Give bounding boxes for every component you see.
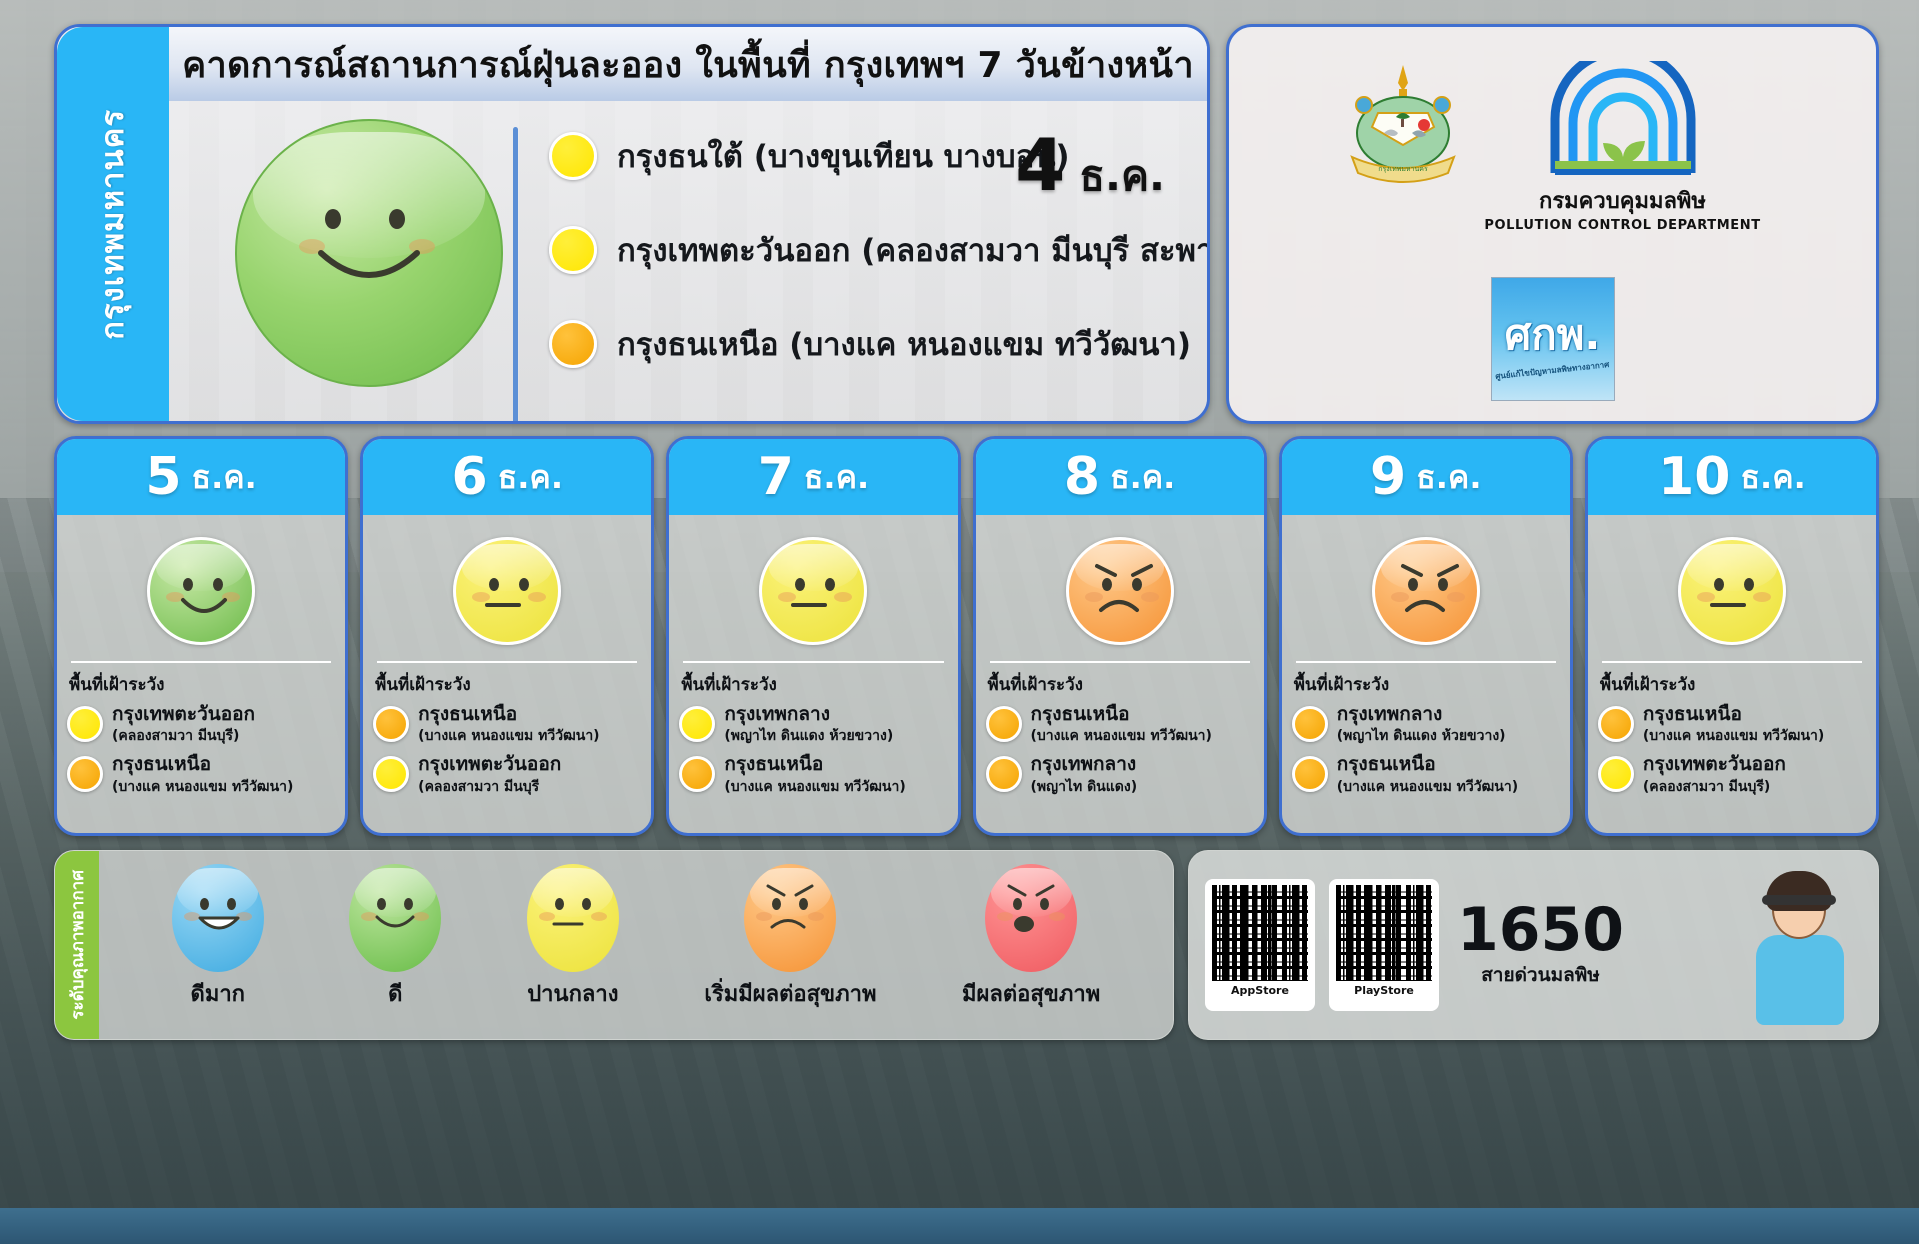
warn-area-name: กรุงเทพกลาง (724, 703, 830, 725)
face-gloss (355, 868, 436, 918)
warn-area-name: กรุงเทพตะวันออก (418, 753, 561, 775)
legend-item-red: มีผลต่อสุขภาพ (962, 864, 1100, 1011)
status-dot-yellow-icon (549, 132, 597, 180)
day-body: พื้นที่เฝ้าระวังกรุงธนเหนือ(บางแค หนองแข… (976, 515, 1264, 836)
face-angry-brows (1006, 884, 1056, 898)
face-eye-left (1102, 578, 1112, 591)
status-dot-orange-icon (1292, 706, 1328, 742)
warn-area-sub: (คลองสามวา มีนบุรี (418, 779, 539, 795)
pcd-thai-name: กรมควบคุมมลพิษ (1539, 183, 1706, 218)
list-item: กรุงธนเหนือ (บางแค หนองแขม ทวีวัฒนา) (549, 319, 1210, 369)
legend-item-yellow: ปานกลาง (527, 864, 619, 1011)
today-date: 4 ธ.ค. (1015, 123, 1165, 209)
face-cheek-right (1447, 592, 1465, 602)
status-dot-orange-icon (373, 706, 409, 742)
today-date-number: 4 (1015, 123, 1065, 207)
area-name: กรุงธนใต้ (บางขุนเทียน บางบอน) (617, 131, 1070, 181)
status-dot-orange-icon (1598, 706, 1634, 742)
warn-area-name: กรุงเทพตะวันออก (112, 703, 255, 725)
legend-face-icon (172, 864, 264, 972)
warn-area-name: กรุงธนเหนือ (112, 753, 211, 775)
face-eye-right (1438, 578, 1448, 591)
face-eye-left (555, 898, 564, 910)
today-mood-face-icon (235, 119, 503, 387)
face-smile (373, 914, 417, 934)
status-dot-orange-icon (986, 706, 1022, 742)
watch-area-label: พื้นที่เฝ้าระวัง (1294, 671, 1560, 698)
face-eye-right (227, 898, 236, 910)
face-smile (177, 596, 231, 622)
face-eye-right (825, 578, 835, 591)
face-cheek-right (528, 592, 546, 602)
status-dot-orange-icon (1292, 756, 1328, 792)
logo-row: กรุงเทพมหานคร กรมควบคุมมลพิษ POLLUTION C… (1229, 61, 1876, 233)
status-dot-yellow-icon (373, 756, 409, 792)
legend-face-icon (349, 864, 441, 972)
legend-side-tab: ระดับคุณภาพอากาศ (55, 851, 99, 1039)
divider (377, 661, 637, 663)
hotline: 1650 สายด่วนมลพิษ (1457, 900, 1624, 990)
face-cheek-right (1753, 592, 1771, 602)
day-header: 10ธ.ค. (1588, 439, 1876, 515)
logo-card: กรุงเทพมหานคร กรมควบคุมมลพิษ POLLUTION C… (1226, 24, 1879, 424)
day-month: ธ.ค. (1416, 452, 1481, 503)
aqi-legend: ระดับคุณภาพอากาศ ดีมากดีปานกลางเริ่มมีผล… (54, 850, 1174, 1040)
divider (990, 661, 1250, 663)
face-eye-right (582, 898, 591, 910)
face-cheek-right (834, 592, 852, 602)
day-month: ธ.ค. (192, 452, 257, 503)
warn-area-sub: (พญาไท ดินแดง ห้วยขวาง) (724, 728, 893, 744)
day-body: พื้นที่เฝ้าระวังกรุงเทพตะวันออก(คลองสามว… (57, 515, 345, 836)
face-eye-right (389, 209, 405, 229)
face-eye-right (1132, 578, 1142, 591)
face-neutral-mouth (1708, 599, 1748, 611)
list-item: กรุงธนเหนือ(บางแค หนองแขม ทวีวัฒนา) (679, 754, 947, 794)
warn-area-sub: (คลองสามวา มีนบุรี) (1643, 779, 1770, 795)
forecast-day-cards: 5ธ.ค.พื้นที่เฝ้าระวังกรุงเทพตะวันออก(คลอ… (54, 436, 1879, 836)
warn-area-sub: (บางแค หนองแขม ทวีวัฒนา) (724, 779, 905, 795)
day-header: 9ธ.ค. (1282, 439, 1570, 515)
day-number: 7 (758, 447, 794, 507)
day-mood-face-icon (1372, 537, 1480, 645)
face-neutral-mouth (789, 599, 829, 611)
pcd-logo-icon (1547, 61, 1699, 179)
divider (1296, 661, 1556, 663)
qr-playstore-label: PlayStore (1354, 984, 1414, 997)
list-item: กรุงธนเหนือ(บางแค หนองแขม ทวีวัฒนา) (373, 704, 641, 744)
face-gloss (253, 132, 485, 259)
face-eye-left (1013, 898, 1022, 910)
legend-face-icon (744, 864, 836, 972)
pcd-logo-block: กรมควบคุมมลพิษ POLLUTION CONTROL DEPARTM… (1484, 61, 1760, 233)
divider (683, 661, 943, 663)
face-eye-right (1744, 578, 1754, 591)
face-gloss (1687, 544, 1777, 591)
face-frown (1096, 596, 1142, 614)
watch-area-label: พื้นที่เฝ้าระวัง (69, 671, 335, 698)
list-item: กรุงเทพตะวันออก (คลองสามวา มีนบุรี สะพาน… (549, 225, 1210, 275)
watch-area-label: พื้นที่เฝ้าระวัง (988, 671, 1254, 698)
face-cheek-right (808, 912, 824, 921)
warn-area-sub: (พญาไท ดินแดง) (1031, 779, 1138, 795)
legend-item-blue: ดีมาก (172, 864, 264, 1011)
qr-appstore[interactable]: AppStore (1205, 879, 1315, 1011)
face-eye-right (213, 578, 223, 591)
list-item: กรุงเทพกลาง(พญาไท ดินแดง ห้วยขวาง) (679, 704, 947, 744)
legend-items: ดีมากดีปานกลางเริ่มมีผลต่อสุขภาพมีผลต่อส… (99, 864, 1173, 1027)
day-header: 7ธ.ค. (669, 439, 957, 515)
qr-playstore[interactable]: PlayStore (1329, 879, 1439, 1011)
qr-code-icon (1336, 885, 1432, 981)
divider (1602, 661, 1862, 663)
forecast-day-card-5[interactable]: 5ธ.ค.พื้นที่เฝ้าระวังกรุงเทพตะวันออก(คลอ… (54, 436, 348, 836)
day-mood-face-icon (1066, 537, 1174, 645)
list-item: กรุงธนเหนือ(บางแค หนองแขม ทวีวัฒนา) (1292, 754, 1560, 794)
forecast-day-card-9[interactable]: 9ธ.ค.พื้นที่เฝ้าระวังกรุงเทพกลาง(พญาไท ด… (1279, 436, 1573, 836)
forecast-day-card-6[interactable]: 6ธ.ค.พื้นที่เฝ้าระวังกรุงธนเหนือ(บางแค ห… (360, 436, 654, 836)
legend-label: ดีมาก (191, 976, 245, 1011)
day-mood-face-icon (147, 537, 255, 645)
face-open-frown (1009, 914, 1039, 934)
area-name: กรุงธนเหนือ (บางแค หนองแขม ทวีวัฒนา) (617, 319, 1191, 369)
face-angry-brows (765, 884, 815, 898)
status-dot-orange-icon (549, 320, 597, 368)
agent-headset (1762, 895, 1836, 905)
legend-label: เริ่มมีผลต่อสุขภาพ (704, 976, 876, 1011)
day-month: ธ.ค. (804, 452, 869, 503)
day-month: ธ.ค. (1110, 452, 1175, 503)
warn-area-sub: (บางแค หนองแขม ทวีวัฒนา) (1031, 728, 1212, 744)
face-cheek-right (1141, 592, 1159, 602)
top-row: กรุงเทพมหานคร คาดการณ์สถานการณ์ฝุ่นละออง… (54, 24, 1879, 424)
today-forecast-card: กรุงเทพมหานคร คาดการณ์สถานการณ์ฝุ่นละออง… (54, 24, 1210, 424)
status-dot-yellow-icon (549, 226, 597, 274)
face-eye-right (404, 898, 413, 910)
svg-text:กรุงเทพมหานคร: กรุงเทพมหานคร (1379, 165, 1429, 173)
day-body: พื้นที่เฝ้าระวังกรุงธนเหนือ(บางแค หนองแข… (363, 515, 651, 836)
legend-face-icon (985, 864, 1077, 972)
day-mood-face-icon (759, 537, 867, 645)
face-grin (196, 914, 242, 936)
list-item: กรุงเทพกลาง(พญาไท ดินแดง) (986, 754, 1254, 794)
status-dot-orange-icon (679, 756, 715, 792)
day-header: 6ธ.ค. (363, 439, 651, 515)
sakorn-logo: ศกพ. ศูนย์แก้ไขปัญหามลพิษทางอากาศ (1491, 277, 1615, 401)
agent-hair (1766, 871, 1832, 911)
face-eye-left (1408, 578, 1418, 591)
legend-item-green: ดี (349, 864, 441, 1011)
warn-area-sub: (บางแค หนองแขม ทวีวัฒนา) (1337, 779, 1518, 795)
warn-area-name: กรุงเทพตะวันออก (1643, 753, 1786, 775)
face-gloss (532, 868, 613, 918)
status-dot-yellow-icon (1598, 756, 1634, 792)
face-frown (1402, 596, 1448, 614)
face-eye-left (1714, 578, 1724, 591)
warn-area-sub: (บางแค หนองแขม ทวีวัฒนา) (1643, 728, 1824, 744)
face-gloss (462, 544, 552, 591)
list-item: กรุงธนเหนือ(บางแค หนองแขม ทวีวัฒนา) (986, 704, 1254, 744)
face-eye-left (200, 898, 209, 910)
bangkok-side-tab: กรุงเทพมหานคร (57, 27, 169, 421)
face-eye-left (377, 898, 386, 910)
divider (71, 661, 331, 663)
face-frown (768, 914, 808, 930)
day-number: 8 (1064, 447, 1100, 507)
legend-label: ดี (388, 976, 402, 1011)
day-header: 8ธ.ค. (976, 439, 1264, 515)
face-eye-right (519, 578, 529, 591)
day-number: 9 (1370, 447, 1406, 507)
warn-area-sub: (พญาไท ดินแดง ห้วยขวาง) (1337, 728, 1506, 744)
forecast-day-card-10[interactable]: 10ธ.ค.พื้นที่เฝ้าระวังกรุงธนเหนือ(บางแค … (1585, 436, 1879, 836)
list-item: กรุงเทพตะวันออก(คลองสามวา มีนบุรี (373, 754, 641, 794)
day-body: พื้นที่เฝ้าระวังกรุงเทพกลาง(พญาไท ดินแดง… (1282, 515, 1570, 836)
call-agent-illustration-icon (1738, 865, 1862, 1025)
forecast-day-card-7[interactable]: 7ธ.ค.พื้นที่เฝ้าระวังกรุงเทพกลาง(พญาไท ด… (666, 436, 960, 836)
warn-area-name: กรุงเทพกลาง (1337, 703, 1443, 725)
day-mood-face-icon (1678, 537, 1786, 645)
qr-appstore-label: AppStore (1231, 984, 1289, 997)
background-bottom-band (0, 1208, 1919, 1244)
day-number: 10 (1658, 447, 1730, 507)
face-cheek-right (591, 912, 607, 921)
legend-label: มีผลต่อสุขภาพ (962, 976, 1100, 1011)
face-gloss (769, 544, 859, 591)
day-month: ธ.ค. (498, 452, 563, 503)
warn-area-sub: (คลองสามวา มีนบุรี) (112, 728, 239, 744)
list-item: กรุงเทพตะวันออก(คลองสามวา มีนบุรี) (1598, 754, 1866, 794)
face-neutral-mouth (551, 919, 585, 929)
face-gloss (156, 544, 246, 591)
qr-code-icon (1212, 885, 1308, 981)
status-dot-yellow-icon (679, 706, 715, 742)
day-body: พื้นที่เฝ้าระวังกรุงธนเหนือ(บางแค หนองแข… (1588, 515, 1876, 836)
status-dot-yellow-icon (67, 706, 103, 742)
watch-area-label: พื้นที่เฝ้าระวัง (1600, 671, 1866, 698)
area-name: กรุงเทพตะวันออก (คลองสามวา มีนบุรี สะพาน… (617, 225, 1210, 275)
bangkok-side-tab-label: กรุงเทพมหานคร (88, 109, 138, 340)
sakorn-abbrev: ศกพ. (1505, 302, 1601, 368)
legend-side-tab-label: ระดับคุณภาพอากาศ (64, 870, 91, 1020)
agent-body (1756, 935, 1844, 1025)
warn-area-name: กรุงธนเหนือ (418, 703, 517, 725)
warn-area-sub: (บางแค หนองแขม ทวีวัฒนา) (112, 779, 293, 795)
bma-emblem-icon: กรุงเทพมหานคร (1344, 61, 1462, 193)
footer-row: ระดับคุณภาพอากาศ ดีมากดีปานกลางเริ่มมีผล… (54, 850, 1879, 1040)
hotline-label: สายด่วนมลพิษ (1481, 960, 1600, 990)
face-angry-brows (1093, 562, 1155, 580)
face-smile (311, 245, 431, 295)
list-item: กรุงเทพกลาง(พญาไท ดินแดง ห้วยขวาง) (1292, 704, 1560, 744)
face-eye-right (1040, 898, 1049, 910)
face-cheek-right (1049, 912, 1065, 921)
hotline-number: 1650 (1457, 900, 1624, 960)
status-dot-orange-icon (986, 756, 1022, 792)
face-eye-left (325, 209, 341, 229)
list-item: กรุงธนเหนือ(บางแค หนองแขม ทวีวัฒนา) (1598, 704, 1866, 744)
legend-item-orange: เริ่มมีผลต่อสุขภาพ (704, 864, 876, 1011)
face-neutral-mouth (483, 599, 523, 611)
legend-face-icon (527, 864, 619, 972)
legend-label: ปานกลาง (527, 976, 618, 1011)
vertical-divider (513, 127, 518, 424)
warn-area-name: กรุงธนเหนือ (1031, 703, 1130, 725)
day-mood-face-icon (453, 537, 561, 645)
warn-area-sub: (บางแค หนองแขม ทวีวัฒนา) (418, 728, 599, 744)
status-dot-orange-icon (67, 756, 103, 792)
warn-area-name: กรุงเทพกลาง (1031, 753, 1137, 775)
day-body: พื้นที่เฝ้าระวังกรุงเทพกลาง(พญาไท ดินแดง… (669, 515, 957, 836)
watch-area-label: พื้นที่เฝ้าระวัง (681, 671, 947, 698)
face-gloss (177, 868, 258, 918)
watch-area-label: พื้นที่เฝ้าระวัง (375, 671, 641, 698)
page-title: คาดการณ์สถานการณ์ฝุ่นละออง ในพื้นที่ กรุ… (182, 36, 1194, 93)
title-bar: คาดการณ์สถานการณ์ฝุ่นละออง ในพื้นที่ กรุ… (169, 27, 1207, 101)
warn-area-name: กรุงธนเหนือ (1337, 753, 1436, 775)
warn-area-name: กรุงธนเหนือ (724, 753, 823, 775)
day-month: ธ.ค. (1741, 452, 1806, 503)
pcd-english-name: POLLUTION CONTROL DEPARTMENT (1484, 218, 1760, 233)
face-angry-brows (1399, 562, 1461, 580)
day-header: 5ธ.ค. (57, 439, 345, 515)
day-number: 5 (145, 447, 181, 507)
contact-card: AppStore PlayStore 1650 สายด่วนมลพิษ (1188, 850, 1879, 1040)
warn-area-name: กรุงธนเหนือ (1643, 703, 1742, 725)
today-date-month: ธ.ค. (1079, 143, 1165, 209)
day-number: 6 (452, 447, 488, 507)
list-item: กรุงธนเหนือ(บางแค หนองแขม ทวีวัฒนา) (67, 754, 335, 794)
forecast-day-card-8[interactable]: 8ธ.ค.พื้นที่เฝ้าระวังกรุงธนเหนือ(บางแค ห… (973, 436, 1267, 836)
list-item: กรุงเทพตะวันออก(คลองสามวา มีนบุรี) (67, 704, 335, 744)
